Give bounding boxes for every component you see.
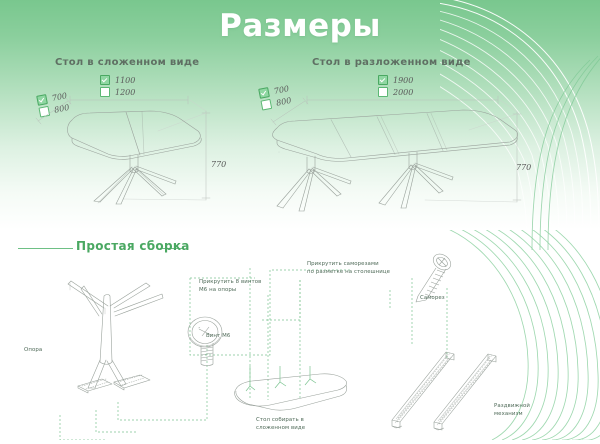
section-title-folded: Стол в сложенном виде (55, 57, 199, 68)
slide-mechanism-drawing (378, 340, 508, 430)
unfolded-table-drawing (255, 80, 540, 215)
divider-left (18, 248, 73, 249)
label-leg: Опора (24, 347, 42, 355)
folded-table-drawing (38, 83, 248, 213)
bolt-m6-drawing (184, 315, 234, 367)
label-assemble-note: Стол собирать в сложенном виде (256, 417, 305, 433)
section-title-unfolded: Стол в разложенном виде (312, 57, 471, 68)
label-selftap-instruction: Прикрутить саморезами по разметке на сто… (307, 261, 390, 277)
assembly-title: Простая сборка (76, 239, 190, 253)
label-slide-mechanism: Раздвижной механизм (494, 403, 530, 419)
page-title: Размеры (0, 8, 600, 44)
infographic-page: Размеры Стол в сложенном виде 1100 1200 … (0, 0, 600, 440)
label-selftap: Саморез (420, 295, 445, 303)
tabletop-drawing (222, 365, 352, 415)
label-screw-instruction: Прикрутить 8 винтов М6 на опоры (199, 279, 261, 295)
label-bolt-m6: Винт М6 (206, 333, 230, 341)
leg-drawing (50, 278, 180, 398)
